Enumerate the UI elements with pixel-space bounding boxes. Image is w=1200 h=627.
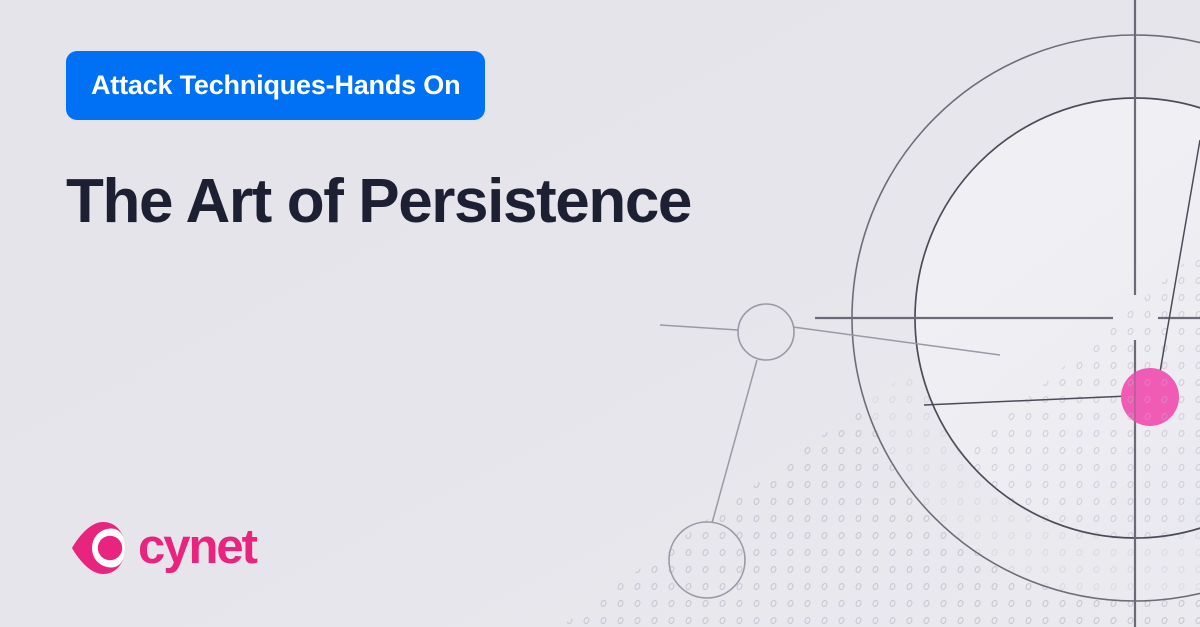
cynet-eye-logo-icon <box>70 521 126 575</box>
cynet-logo[interactable]: cynet <box>70 521 256 575</box>
content-layer: Attack Techniques-Hands On The Art of Pe… <box>0 0 1200 627</box>
cynet-wordmark: cynet <box>138 523 256 572</box>
promo-banner: Attack Techniques-Hands On The Art of Pe… <box>0 0 1200 627</box>
category-badge[interactable]: Attack Techniques-Hands On <box>66 51 485 120</box>
page-title: The Art of Persistence <box>66 166 691 237</box>
